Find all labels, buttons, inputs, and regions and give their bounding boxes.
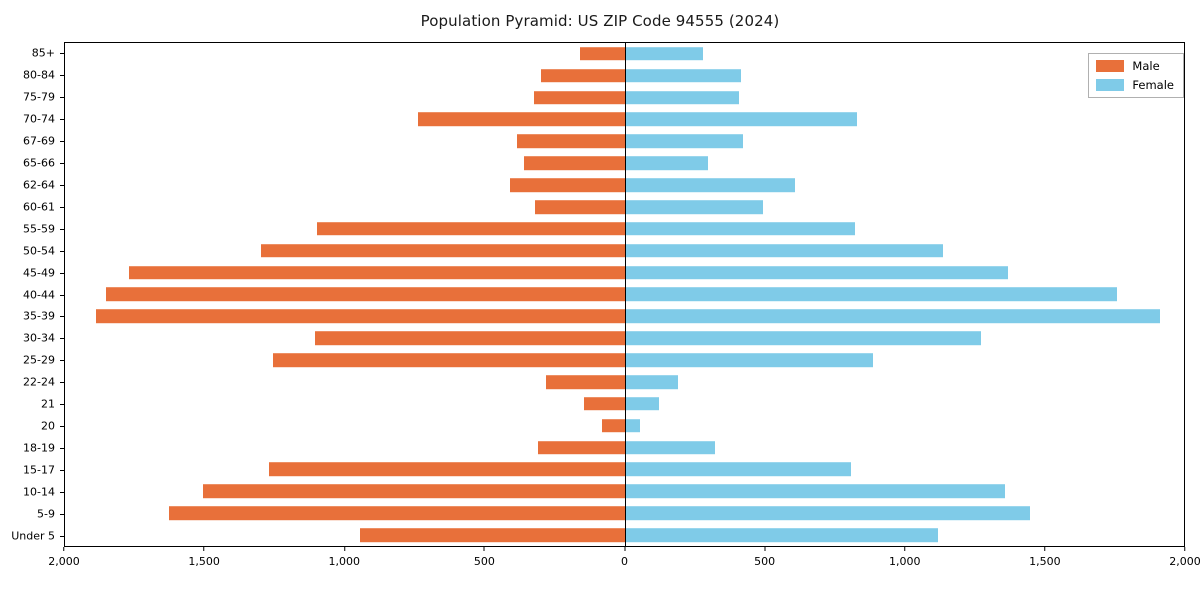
x-tick-label: 500 (754, 555, 775, 568)
y-tick-35-39: 35-39 (0, 306, 64, 328)
bar-male (129, 266, 624, 280)
legend-item-male[interactable]: Male (1096, 59, 1174, 73)
y-tick-55-59: 55-59 (0, 218, 64, 240)
x-tick-mark (904, 547, 905, 551)
x-tick-mark (624, 547, 625, 551)
y-tick-45-49: 45-49 (0, 262, 64, 284)
bar-male (273, 353, 624, 367)
y-tick-label: 62-64 (23, 178, 55, 191)
y-tick-70-74: 70-74 (0, 108, 64, 130)
y-tick-label: 50-54 (23, 244, 55, 257)
y-tick-50-54: 50-54 (0, 240, 64, 262)
legend-label: Male (1132, 59, 1159, 73)
x-tick-mark (1044, 547, 1045, 551)
bar-female (625, 485, 1005, 499)
bar-male (534, 91, 625, 105)
y-tick-label: 60-61 (23, 200, 55, 213)
y-tick-60-61: 60-61 (0, 196, 64, 218)
x-tick-label: 2,000 (1169, 555, 1200, 568)
bar-female (625, 69, 741, 83)
bar-male (580, 47, 625, 61)
legend: MaleFemale (1088, 53, 1184, 98)
x-tick-mark (1185, 547, 1186, 551)
y-tick-label: 67-69 (23, 134, 55, 147)
zero-axis-line (625, 43, 626, 546)
bar-male (535, 200, 625, 214)
x-tick: 500 (474, 547, 495, 568)
bar-female (625, 222, 856, 236)
x-tick: 1,000 (889, 547, 921, 568)
x-tick: 1,500 (1029, 547, 1061, 568)
bar-female (625, 463, 852, 477)
bar-female (625, 178, 796, 192)
bar-female (625, 375, 678, 389)
x-tick: 2,000 (1169, 547, 1200, 568)
y-tick-80-84: 80-84 (0, 64, 64, 86)
y-tick-label: 55-59 (23, 222, 55, 235)
y-tick-label: 20 (41, 420, 55, 433)
y-tick-label: 80-84 (23, 69, 55, 82)
x-tick: 2,000 (48, 547, 80, 568)
y-tick-85+: 85+ (0, 42, 64, 64)
x-axis-ticks: 2,0001,5001,00050005001,0001,5002,000 (64, 547, 1185, 577)
y-tick-21: 21 (0, 393, 64, 415)
bar-male (315, 331, 624, 345)
bar-male (269, 463, 624, 477)
x-tick-label: 500 (474, 555, 495, 568)
x-tick-label: 1,000 (329, 555, 361, 568)
bar-female (625, 47, 703, 61)
x-tick-label: 1,500 (1029, 555, 1061, 568)
population-pyramid-figure: Population Pyramid: US ZIP Code 94555 (2… (0, 0, 1200, 600)
bar-female (625, 91, 740, 105)
x-tick-mark (764, 547, 765, 551)
x-tick-label: 1,500 (188, 555, 220, 568)
y-tick-67-69: 67-69 (0, 130, 64, 152)
y-tick-30-34: 30-34 (0, 327, 64, 349)
legend-swatch-female (1096, 79, 1124, 91)
y-tick-65-66: 65-66 (0, 152, 64, 174)
y-tick-label: 15-17 (23, 464, 55, 477)
bar-female (625, 528, 938, 542)
bar-female (625, 506, 1031, 520)
bar-female (625, 419, 640, 433)
y-tick-label: 35-39 (23, 310, 55, 323)
y-tick-label: 45-49 (23, 266, 55, 279)
x-tick: 0 (621, 547, 628, 568)
legend-swatch-male (1096, 60, 1124, 72)
y-tick-label: 40-44 (23, 288, 55, 301)
x-tick-mark (484, 547, 485, 551)
y-tick-label: 75-79 (23, 90, 55, 103)
x-tick: 1,000 (329, 547, 361, 568)
bar-female (625, 310, 1161, 324)
bar-male (360, 528, 624, 542)
bar-female (625, 331, 982, 345)
bar-female (625, 135, 744, 149)
y-tick-25-29: 25-29 (0, 349, 64, 371)
y-tick-label: 21 (41, 398, 55, 411)
y-tick-40-44: 40-44 (0, 284, 64, 306)
x-tick-mark (204, 547, 205, 551)
y-tick-label: 70-74 (23, 112, 55, 125)
bar-male (96, 310, 625, 324)
legend-item-female[interactable]: Female (1096, 78, 1174, 92)
y-tick-62-64: 62-64 (0, 174, 64, 196)
bar-male (517, 135, 625, 149)
bar-male (602, 419, 624, 433)
y-tick-under-5: Under 5 (0, 525, 64, 547)
y-tick-label: 85+ (32, 47, 55, 60)
bar-female (625, 441, 716, 455)
y-tick-label: 5-9 (37, 508, 55, 521)
x-tick-label: 0 (621, 555, 628, 568)
x-tick: 1,500 (188, 547, 220, 568)
y-tick-15-17: 15-17 (0, 459, 64, 481)
y-tick-label: 10-14 (23, 486, 55, 499)
x-tick-label: 2,000 (48, 555, 80, 568)
y-tick-label: 65-66 (23, 156, 55, 169)
bar-female (625, 353, 874, 367)
bar-male (418, 113, 625, 127)
bar-female (625, 397, 660, 411)
bar-male (261, 244, 625, 258)
y-tick-22-24: 22-24 (0, 371, 64, 393)
x-tick-mark (344, 547, 345, 551)
y-tick-10-14: 10-14 (0, 481, 64, 503)
bar-male (317, 222, 625, 236)
plot-area (64, 42, 1185, 547)
bar-female (625, 288, 1117, 302)
y-axis-labels: Under 55-910-1415-1718-19202122-2425-293… (0, 42, 64, 547)
bar-male (510, 178, 625, 192)
bar-female (625, 156, 709, 170)
y-tick-label: Under 5 (11, 530, 55, 543)
bar-male (538, 441, 625, 455)
bar-male (584, 397, 625, 411)
x-tick-mark (64, 547, 65, 551)
y-tick-label: 30-34 (23, 332, 55, 345)
y-tick-18-19: 18-19 (0, 437, 64, 459)
y-tick-label: 25-29 (23, 354, 55, 367)
bar-male (169, 506, 625, 520)
bar-male (106, 288, 625, 302)
chart-title: Population Pyramid: US ZIP Code 94555 (2… (0, 12, 1200, 30)
bar-male (203, 485, 624, 499)
bar-female (625, 266, 1008, 280)
x-tick-label: 1,000 (889, 555, 921, 568)
bar-male (546, 375, 624, 389)
bar-male (541, 69, 625, 83)
y-tick-20: 20 (0, 415, 64, 437)
y-tick-label: 18-19 (23, 442, 55, 455)
y-tick-5-9: 5-9 (0, 503, 64, 525)
y-tick-label: 22-24 (23, 376, 55, 389)
bar-female (625, 200, 763, 214)
bar-male (524, 156, 625, 170)
legend-label: Female (1132, 78, 1174, 92)
bar-female (625, 244, 944, 258)
x-tick: 500 (754, 547, 775, 568)
y-tick-75-79: 75-79 (0, 86, 64, 108)
bar-female (625, 113, 857, 127)
